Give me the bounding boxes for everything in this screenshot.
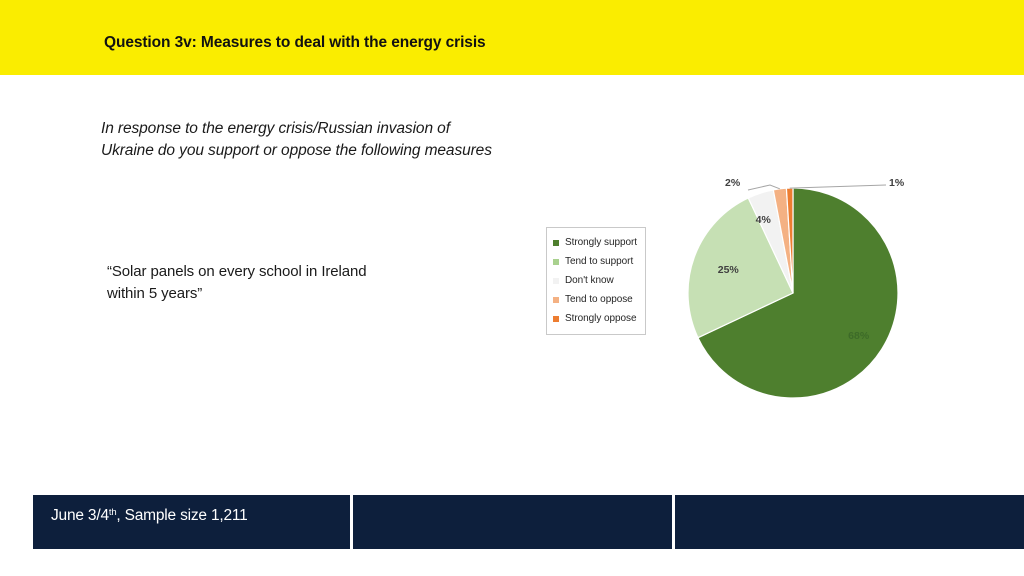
legend-item-tend-to-support: Tend to support xyxy=(553,252,639,271)
pie-slices xyxy=(688,188,898,398)
chart-legend: Strongly support Tend to support Don't k… xyxy=(546,227,646,335)
legend-item-strongly-oppose: Strongly oppose xyxy=(553,309,639,328)
legend-swatch-icon xyxy=(553,297,559,303)
footer-sample-text: , Sample size 1,211 xyxy=(116,507,247,524)
footer-panel-left: June 3/4th, Sample size 1,211 xyxy=(33,495,350,549)
pie-leader-lines xyxy=(748,185,886,190)
legend-item-label: Strongly support xyxy=(565,237,637,248)
footer-panel-right xyxy=(675,495,1024,549)
pie-label-dont-know: 4% xyxy=(756,214,771,226)
legend-item-dont-know: Don't know xyxy=(553,271,639,290)
legend-item-tend-to-oppose: Tend to oppose xyxy=(553,290,639,309)
legend-swatch-icon xyxy=(553,316,559,322)
pie-label-strongly-oppose: 1% xyxy=(889,177,904,189)
legend-item-label: Tend to oppose xyxy=(565,294,633,305)
legend-item-label: Tend to support xyxy=(565,256,633,267)
question-text: In response to the energy crisis/Russian… xyxy=(101,118,501,161)
legend-item-label: Strongly oppose xyxy=(565,313,637,324)
pie-label-tend-to-support: 25% xyxy=(718,264,739,276)
pie-label-tend-to-oppose: 2% xyxy=(725,177,740,189)
legend-item-strongly-support: Strongly support xyxy=(553,233,639,252)
legend-swatch-icon xyxy=(553,240,559,246)
legend-swatch-icon xyxy=(553,259,559,265)
footer-panel-middle xyxy=(353,495,672,549)
footer-sample-info: June 3/4th, Sample size 1,211 xyxy=(51,507,248,525)
legend-swatch-icon xyxy=(553,278,559,284)
header-band: Question 3v: Measures to deal with the e… xyxy=(0,0,1024,75)
pie-label-strongly-support: 68% xyxy=(848,330,869,342)
measure-quote-text: “Solar panels on every school in Ireland… xyxy=(107,261,407,305)
page-title: Question 3v: Measures to deal with the e… xyxy=(104,34,486,52)
footer-bar: June 3/4th, Sample size 1,211 xyxy=(33,495,1024,549)
legend-item-label: Don't know xyxy=(565,275,614,286)
footer-date-prefix: June 3/4 xyxy=(51,507,109,524)
leader-line-strongly-oppose xyxy=(790,185,886,188)
